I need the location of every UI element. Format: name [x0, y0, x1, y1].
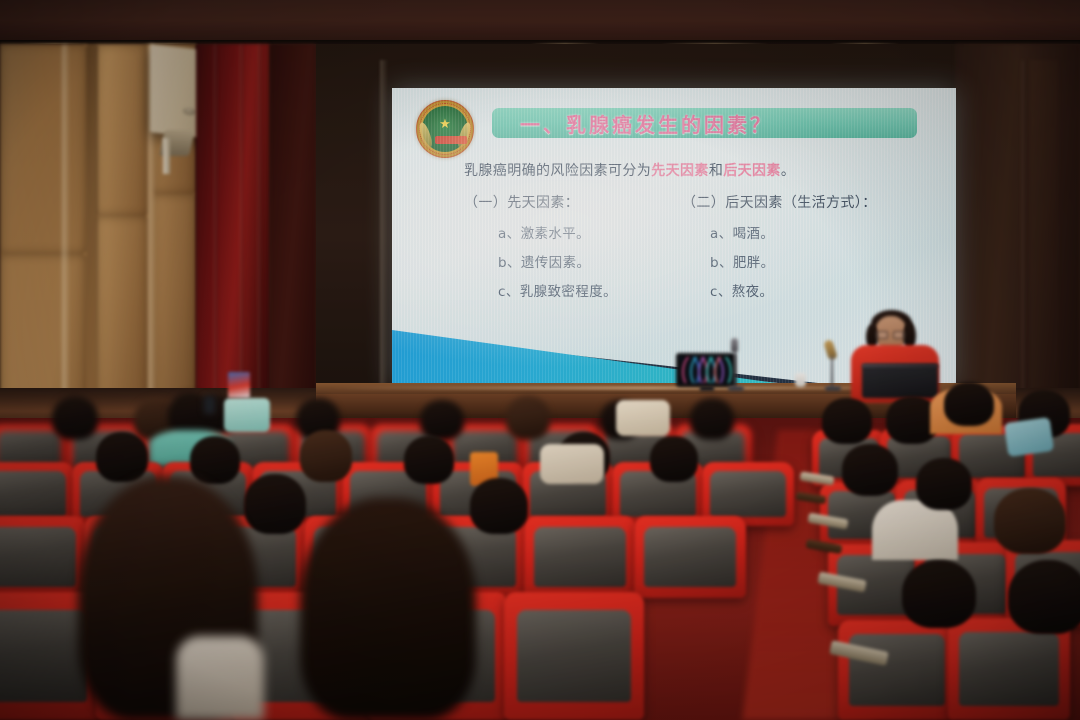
bullet-innate-c: c、乳腺致密程度。: [498, 280, 617, 300]
audience-head: [994, 488, 1066, 554]
audience-head: [300, 430, 352, 482]
audience-clothing-mint: [224, 398, 270, 432]
audience-head: [944, 382, 994, 426]
emblem-star-icon: ★: [439, 117, 451, 130]
lead-prefix: 乳腺癌明确的风险因素可分为: [464, 163, 651, 179]
audience-head: [650, 436, 698, 482]
audience-head: [822, 398, 872, 444]
audience-head: [842, 444, 898, 496]
speaker-laptop: [862, 364, 938, 398]
seat: [634, 516, 746, 598]
institution-emblem-icon: ★: [416, 100, 474, 158]
foreground-audience-clothing: [176, 636, 264, 720]
slide-lead-sentence: 乳腺癌明确的风险因素可分为先天因素和后天因素。: [464, 160, 795, 180]
lead-suffix: 。: [781, 163, 795, 179]
audience-head: [470, 478, 528, 534]
foreground-audience-hair: [300, 498, 476, 720]
monitor-screen: [680, 357, 732, 383]
audience-head: [52, 396, 98, 440]
seat: [504, 592, 644, 720]
slide-title-banner: 一、乳腺癌发生的因素？: [492, 108, 917, 138]
column-heading-acquired: （二）后天因素（生活方式）：: [682, 192, 877, 212]
paper-cup: [795, 373, 806, 387]
bullet-innate-a: a、激素水平。: [498, 222, 590, 242]
audience-head: [404, 436, 454, 484]
audience-clothing-cream: [616, 400, 670, 436]
phone-icon: [204, 396, 215, 414]
confidence-monitor: [676, 353, 736, 387]
bullet-acquired-c: c、熬夜。: [710, 280, 773, 300]
slide-title: 一、乳腺癌发生的因素？: [492, 109, 773, 138]
audience-head: [690, 398, 734, 440]
bullet-innate-b: b、遗传因素。: [498, 251, 590, 271]
monitor-stand: [700, 386, 714, 391]
lead-highlight-1: 先天因素: [651, 163, 709, 179]
audience-head: [916, 458, 972, 510]
audience-head: [96, 432, 148, 482]
seat: [0, 516, 86, 598]
bullet-acquired-a: a、喝酒。: [710, 222, 774, 242]
teal-item-on-seat: [1004, 417, 1054, 457]
right-curtain-wall: [955, 44, 1080, 424]
speaker-glasses-icon: [876, 331, 906, 339]
dark-curtain-column: [270, 44, 316, 444]
bullet-acquired-b: b、肥胖。: [710, 251, 775, 271]
emblem-red-banner: [435, 136, 467, 144]
right-curtain-fold: [1030, 60, 1058, 390]
audience-head: [244, 474, 306, 534]
lead-highlight-2: 后天因素: [723, 163, 781, 179]
loudspeaker-mount-pole: [163, 138, 170, 174]
audience-head: [902, 560, 976, 628]
audience-head: [190, 436, 240, 484]
seat: [838, 620, 956, 720]
screen-frame-edge-highlight: [380, 60, 388, 390]
column-heading-innate: （一）先天因素：: [464, 192, 579, 212]
emblem-green-field: ★: [422, 106, 468, 152]
screenshot-root: ★ 一、乳腺癌发生的因素？ 乳腺癌明确的风险因素可分为先天因素和后天因素。 （一…: [0, 0, 1080, 720]
laptop-lid-edge: [862, 364, 938, 367]
seat: [524, 516, 636, 598]
stage-small-sign: [228, 372, 250, 398]
audience-clothing-cream: [540, 444, 604, 484]
audience-head: [1008, 560, 1080, 634]
audience-head: [506, 396, 550, 440]
audience-head: [420, 400, 464, 440]
lead-middle: 和: [709, 163, 723, 179]
